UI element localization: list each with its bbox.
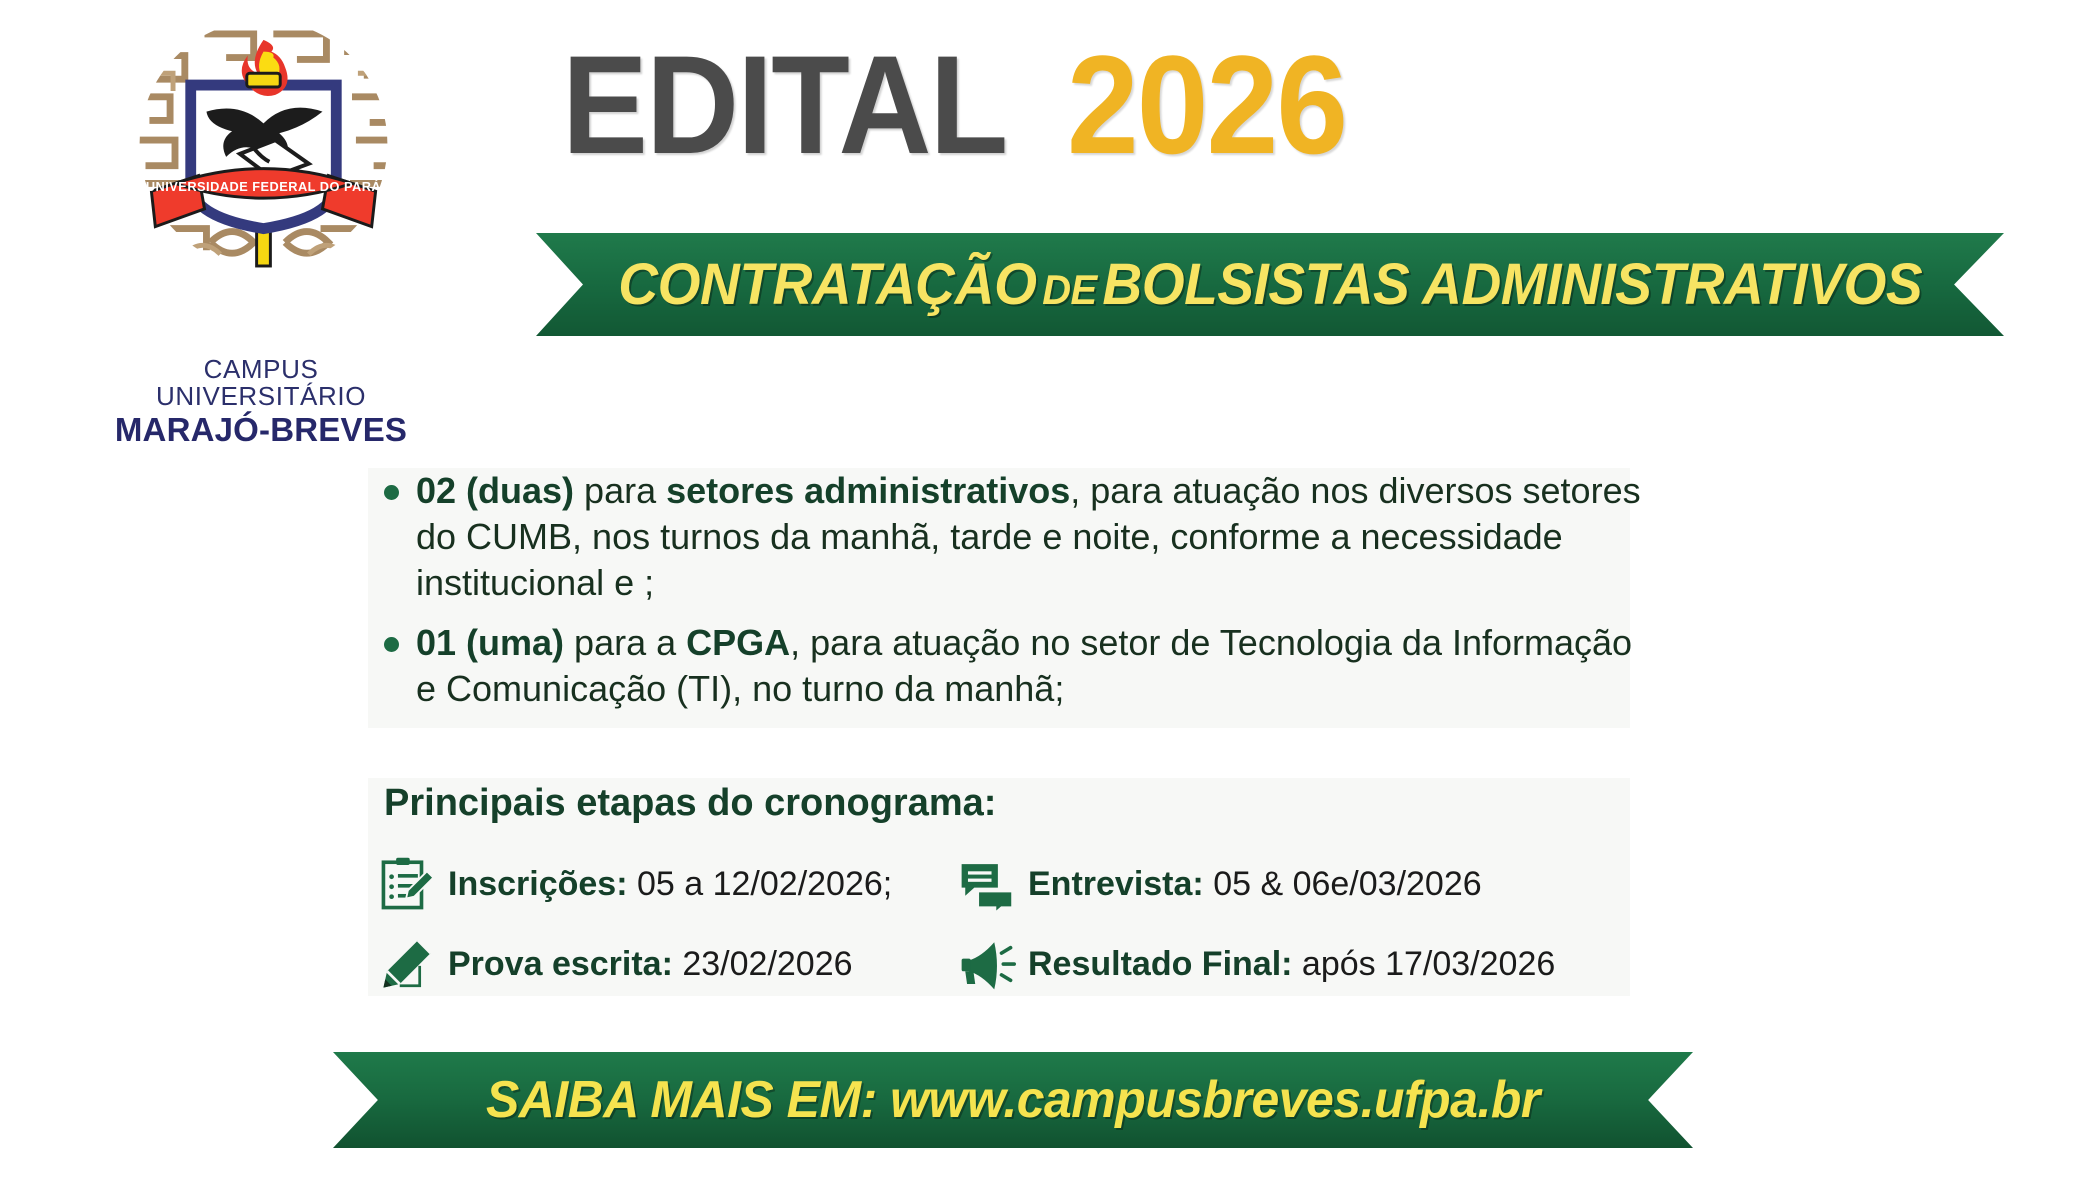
campus-line-1: CAMPUS UNIVERSITÁRIO [96, 356, 426, 411]
vacancy-highlight: setores administrativos [666, 470, 1070, 511]
ribbon-suffix: BOLSISTAS ADMINISTRATIVOS [1102, 252, 1922, 317]
schedule-item-value: 23/02/2026 [682, 945, 852, 983]
schedule-item-text: Inscrições: 05 a 12/02/2026; [448, 865, 892, 904]
campus-name: CAMPUS UNIVERSITÁRIO MARAJÓ-BREVES [96, 356, 426, 447]
schedule-item-value: após 17/03/2026 [1302, 945, 1555, 983]
bullet-dot-icon [384, 637, 399, 652]
schedule-item-value: 05 a 12/02/2026; [637, 865, 892, 903]
vacancy-count: 01 (uma) [416, 622, 564, 663]
clipboard-checklist-icon [378, 855, 436, 913]
schedule-list: Inscrições: 05 a 12/02/2026; Entrevista:… [378, 844, 1628, 1004]
schedule-item-label: Prova escrita: [448, 945, 673, 983]
ufpa-seal-icon: UNIVERSIDADE FEDERAL DO PARÁ [116, 18, 411, 276]
schedule-item-prova: Prova escrita: 23/02/2026 [378, 935, 958, 993]
footer-website-url[interactable]: www.campusbreves.ufpa.br [890, 1071, 1540, 1129]
vacancy-connector: para [574, 470, 666, 511]
title-year: 2026 [1067, 35, 1346, 175]
bullet-dot-icon [384, 485, 399, 500]
schedule-item-resultado: Resultado Final: após 17/03/2026 [958, 935, 1598, 993]
speech-bubbles-icon [958, 855, 1016, 913]
campus-line-2: MARAJÓ-BREVES [96, 413, 426, 448]
schedule-item-text: Prova escrita: 23/02/2026 [448, 945, 853, 984]
title-edital-word: EDITAL [562, 35, 1006, 175]
list-item: 02 (duas) para setores administrativos, … [374, 468, 1644, 606]
ribbon-mid: DE [1042, 266, 1096, 313]
schedule-item-inscricoes: Inscrições: 05 a 12/02/2026; [378, 855, 958, 913]
page-title: EDITAL 2026 [562, 30, 1371, 180]
list-item: 01 (uma) para a CPGA, para atuação no se… [374, 620, 1644, 712]
vacancy-count: 02 (duas) [416, 470, 574, 511]
pencil-icon [378, 935, 436, 993]
ribbon-prefix: CONTRATAÇÃO [618, 252, 1036, 317]
schedule-item-label: Inscrições: [448, 865, 628, 903]
schedule-item-label: Resultado Final: [1028, 945, 1292, 983]
vacancy-connector: para a [564, 622, 686, 663]
schedule-heading: Principais etapas do cronograma: [384, 782, 996, 825]
footer-cta-text: SAIBA MAIS EM: www.campusbreves.ufpa.br [486, 1070, 1540, 1130]
footer-cta-ribbon[interactable]: SAIBA MAIS EM: www.campusbreves.ufpa.br [333, 1052, 1693, 1148]
vacancy-highlight: CPGA [686, 622, 790, 663]
footer-cta-prefix: SAIBA MAIS EM: [486, 1071, 877, 1129]
vacancies-list: 02 (duas) para setores administrativos, … [374, 468, 1644, 726]
schedule-item-text: Resultado Final: após 17/03/2026 [1028, 945, 1555, 984]
seal-motto-text: UNIVERSIDADE FEDERAL DO PARÁ [146, 179, 381, 194]
schedule-item-entrevista: Entrevista: 05 & 06e/03/2026 [958, 855, 1598, 913]
megaphone-icon [958, 935, 1016, 993]
schedule-item-label: Entrevista: [1028, 865, 1204, 903]
subtitle-ribbon: CONTRATAÇÃODEBOLSISTAS ADMINISTRATIVOS [536, 233, 2004, 336]
university-logo-block: UNIVERSIDADE FEDERAL DO PARÁ CAMPUS UNIV… [96, 18, 426, 318]
subtitle-ribbon-text: CONTRATAÇÃODEBOLSISTAS ADMINISTRATIVOS [618, 251, 1922, 318]
schedule-item-value: 05 & 06e/03/2026 [1213, 865, 1481, 903]
schedule-item-text: Entrevista: 05 & 06e/03/2026 [1028, 865, 1482, 904]
